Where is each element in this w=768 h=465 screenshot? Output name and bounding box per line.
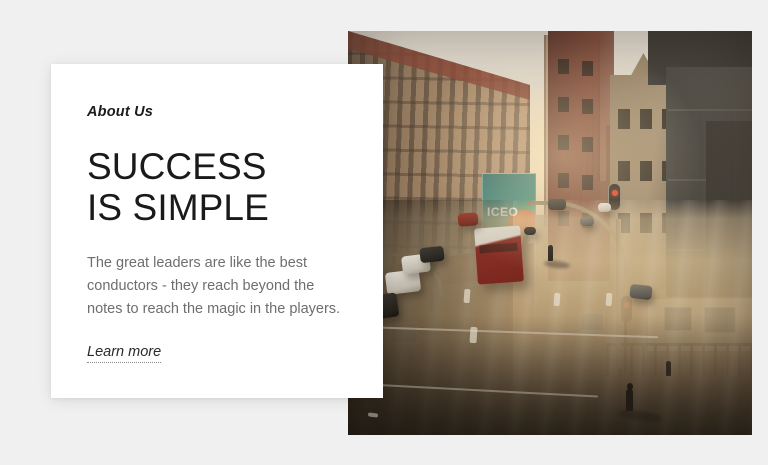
bus-window <box>479 243 517 254</box>
building-stripe <box>668 109 752 111</box>
section-eyebrow: About Us <box>87 104 345 120</box>
pedestrian-head <box>627 383 633 390</box>
window <box>582 61 593 76</box>
parked-car <box>629 284 652 300</box>
pedestrian <box>626 389 633 411</box>
window <box>618 109 630 129</box>
pedestrian <box>666 361 671 376</box>
car <box>524 227 536 235</box>
window <box>582 99 593 114</box>
window <box>640 161 652 181</box>
page-title: SUCCESS IS SIMPLE <box>87 146 345 228</box>
learn-more-link[interactable]: Learn more <box>87 344 161 363</box>
parked-car <box>457 212 478 227</box>
car <box>580 217 594 226</box>
window <box>640 109 652 129</box>
city-street-photo: ICEO <box>348 31 752 435</box>
window <box>582 175 593 190</box>
window <box>558 173 569 188</box>
window <box>558 135 569 150</box>
pedestrian <box>548 245 553 261</box>
car <box>548 199 566 210</box>
about-us-section: ICEO <box>0 0 768 465</box>
window <box>558 59 569 74</box>
car <box>598 203 611 212</box>
lane-marking <box>606 293 613 306</box>
window <box>558 97 569 112</box>
window <box>582 137 593 152</box>
red-bus <box>474 225 524 284</box>
lane-marking <box>554 293 561 306</box>
body-paragraph: The great leaders are like the best cond… <box>87 252 345 321</box>
lane-marking <box>464 289 471 303</box>
traffic-light-bulb <box>612 190 618 196</box>
parked-car <box>419 246 444 263</box>
lane-marking <box>469 327 477 343</box>
about-us-card: About Us SUCCESS IS SIMPLE The great lea… <box>51 64 383 398</box>
window <box>618 161 630 181</box>
